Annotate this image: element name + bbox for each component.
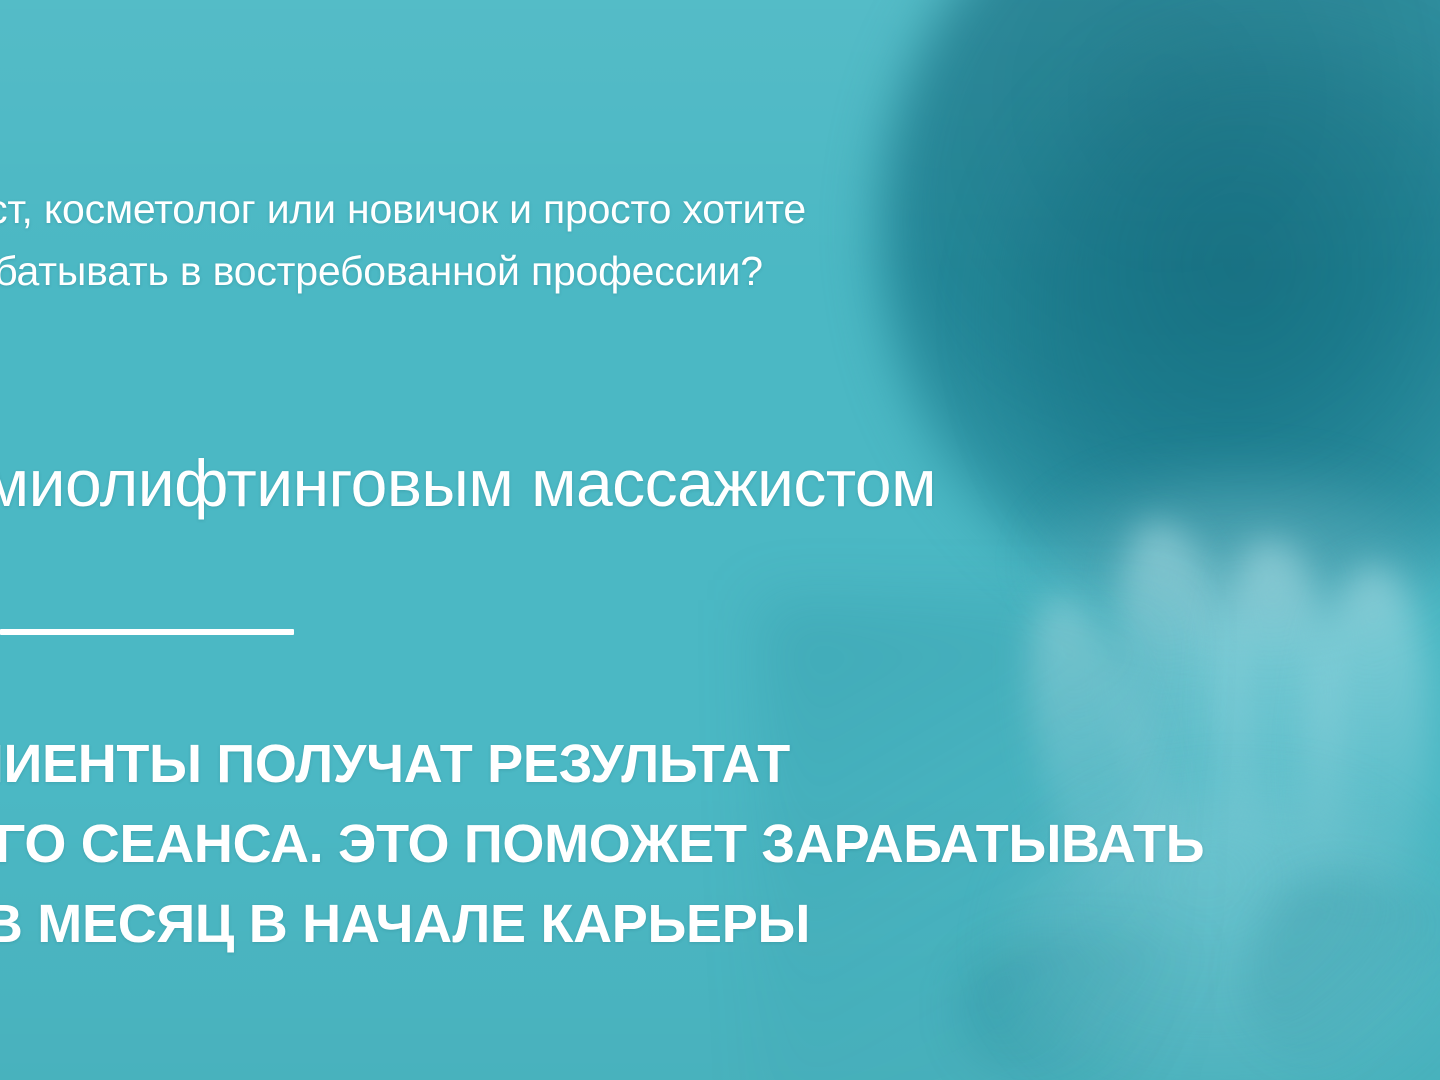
hero-banner: ссажист, косметолог или новичок и просто… <box>0 0 1440 1080</box>
banner-subtitle-line-2: о зарабатывать в востребованной професси… <box>0 240 1294 302</box>
banner-subtitle: ссажист, косметолог или новичок и просто… <box>0 178 1294 302</box>
banner-benefit-line-2: РВОГО СЕАНСА. ЭТО ПОМОЖЕТ ЗАРАБАТЫВАТЬ <box>0 804 1440 884</box>
headline-divider-rule <box>0 629 294 635</box>
banner-benefit-line-1: И КЛИЕНТЫ ПОЛУЧАТ РЕЗУЛЬТАТ <box>0 724 1440 804</box>
banner-benefit-block: И КЛИЕНТЫ ПОЛУЧАТ РЕЗУЛЬТАТ РВОГО СЕАНСА… <box>0 724 1440 964</box>
banner-content: ссажист, косметолог или новичок и просто… <box>0 0 1440 1080</box>
banner-benefit-line-3: 00€ В МЕСЯЦ В НАЧАЛЕ КАРЬЕРЫ <box>0 884 1440 964</box>
banner-subtitle-line-1: ссажист, косметолог или новичок и просто… <box>0 178 1294 240</box>
banner-headline: ьте миолифтинговым массажистом <box>0 440 1432 526</box>
